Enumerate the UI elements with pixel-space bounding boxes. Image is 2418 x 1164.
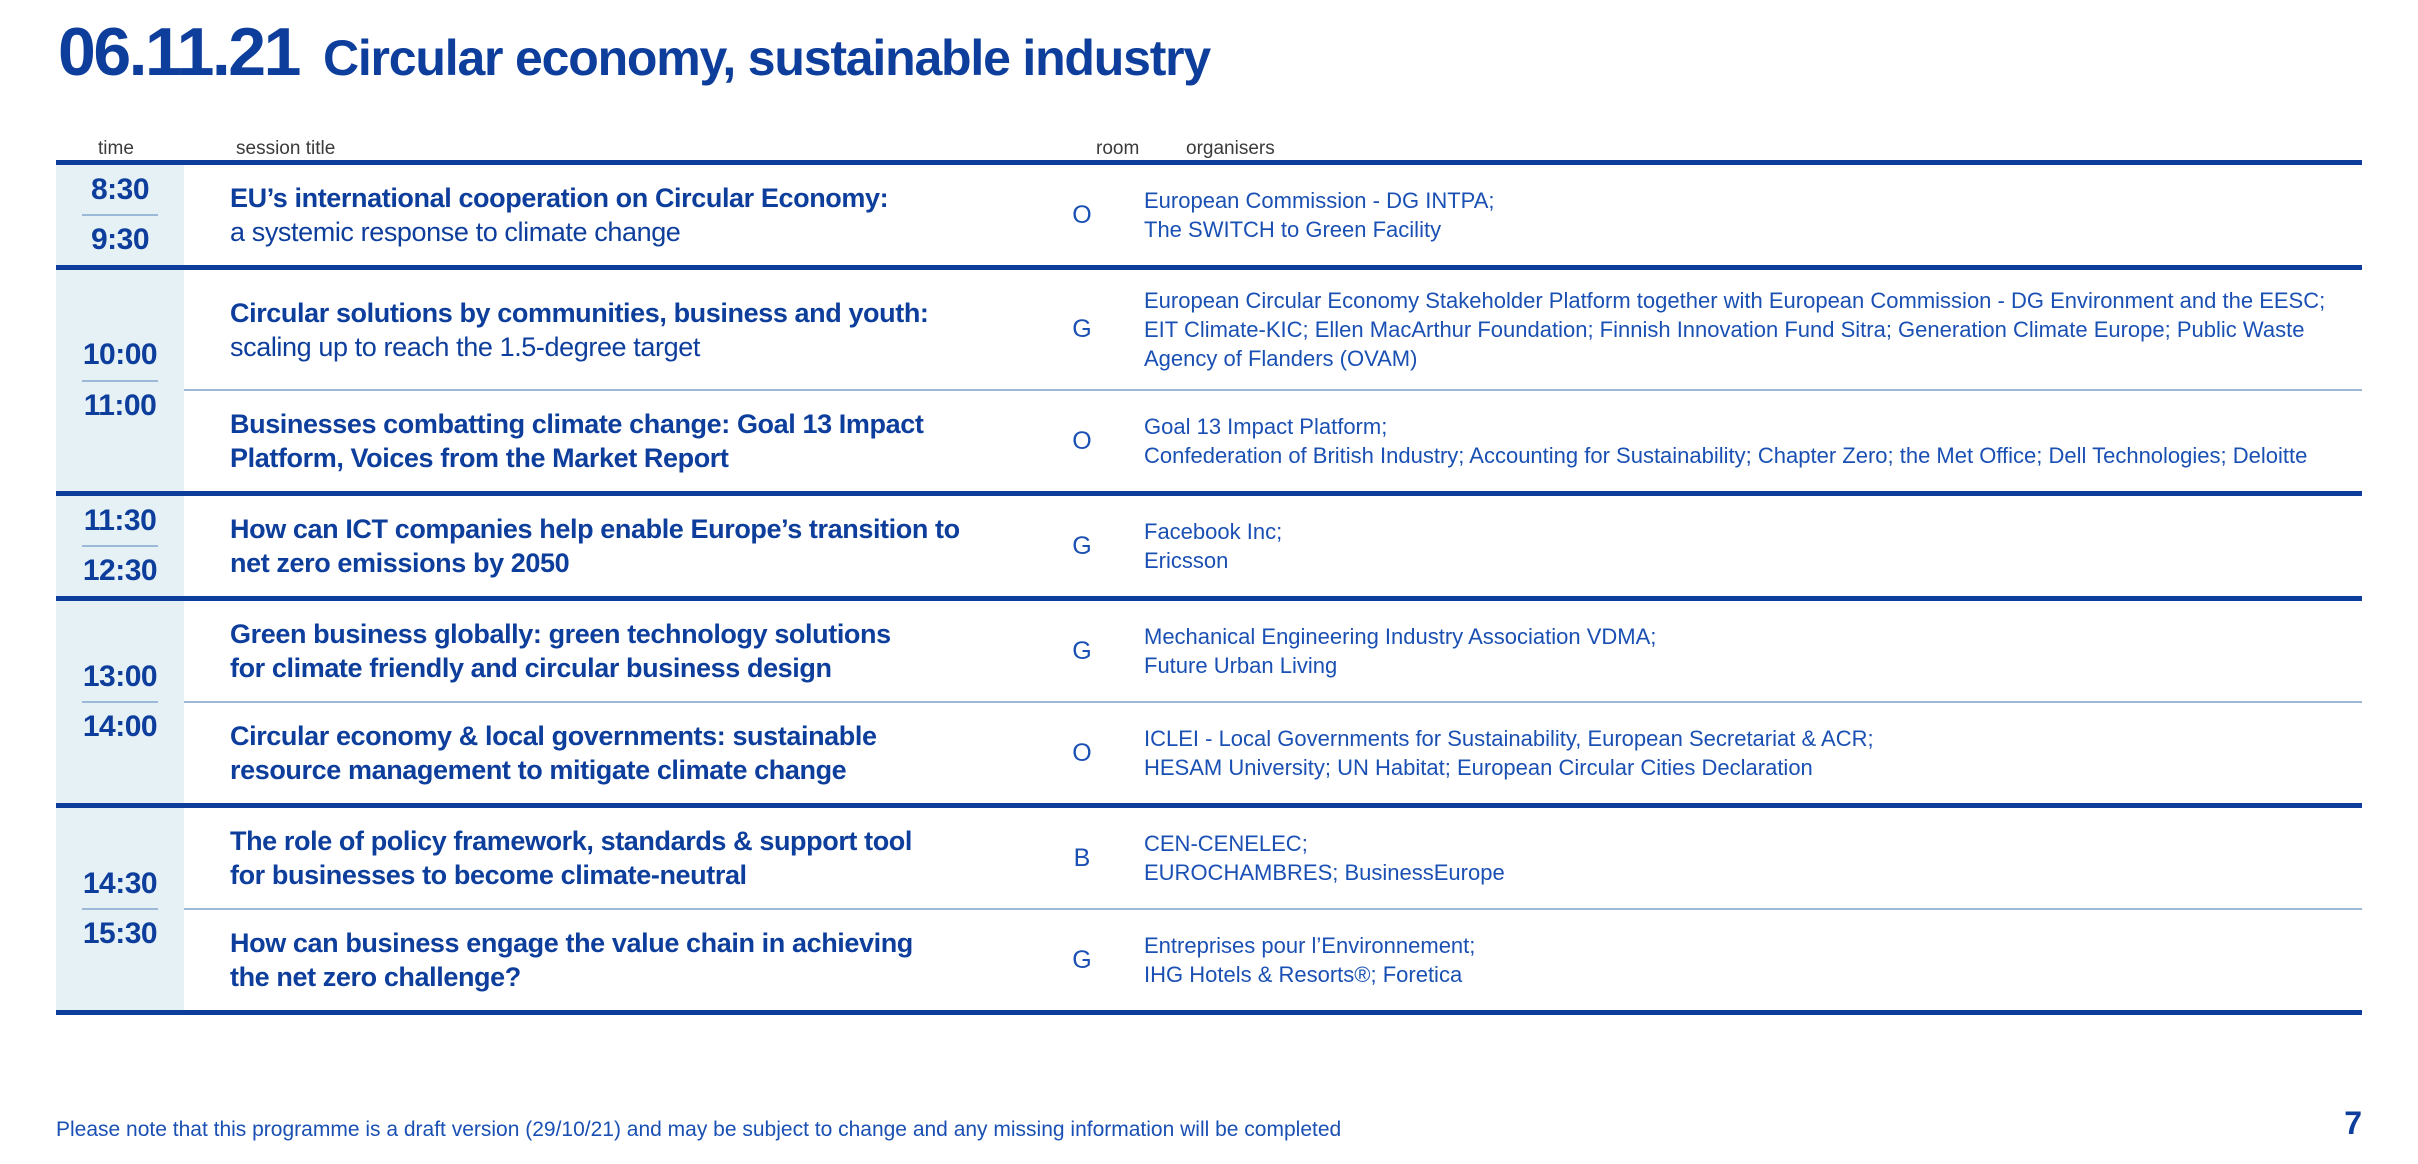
column-header-room: room xyxy=(1096,138,1139,160)
time-end: 11:00 xyxy=(84,386,157,427)
session-title-cell: Circular solutions by communities, busin… xyxy=(184,280,1034,380)
time-end: 12:30 xyxy=(83,551,157,592)
room-cell: B xyxy=(1034,844,1130,873)
time-start: 11:30 xyxy=(84,501,157,542)
time-cell: 10:0011:00 xyxy=(56,270,184,491)
room-cell: G xyxy=(1034,637,1130,666)
time-divider xyxy=(82,214,158,216)
organiser-line: ICLEI - Local Governments for Sustainabi… xyxy=(1144,724,2352,753)
room-cell: G xyxy=(1034,532,1130,561)
time-divider xyxy=(82,380,158,382)
time-end: 15:30 xyxy=(83,914,157,955)
session-title-cell: The role of policy framework, standards … xyxy=(184,808,1034,908)
session-title-cell: Businesses combatting climate change: Go… xyxy=(184,391,1034,491)
footer-note: Please note that this programme is a dra… xyxy=(56,1118,1341,1142)
organiser-line: HESAM University; UN Habitat; European C… xyxy=(1144,753,2352,782)
time-cell: 11:3012:30 xyxy=(56,496,184,596)
organiser-line: European Circular Economy Stakeholder Pl… xyxy=(1144,286,2352,315)
organiser-line: The SWITCH to Green Facility xyxy=(1144,215,2352,244)
organiser-line: Future Urban Living xyxy=(1144,651,2352,680)
schedule-block: 8:309:30EU’s international cooperation o… xyxy=(56,165,2362,270)
session-title-cell: How can business engage the value chain … xyxy=(184,910,1034,1010)
session-title-line-2: for climate friendly and circular busine… xyxy=(230,651,1014,685)
room-cell: O xyxy=(1034,739,1130,768)
time-range: 10:0011:00 xyxy=(56,335,184,426)
session-title-line-1: Circular solutions by communities, busin… xyxy=(230,296,1014,330)
organiser-line: CEN-CENELEC; xyxy=(1144,829,2352,858)
session-title-line-1: The role of policy framework, standards … xyxy=(230,824,1014,858)
organiser-line: Entreprises pour l’Environnement; xyxy=(1144,931,2352,960)
column-headers: time session title room organisers xyxy=(56,122,2362,160)
table-row[interactable]: Businesses combatting climate change: Go… xyxy=(184,391,2362,491)
organisers-cell: CEN-CENELEC;EUROCHAMBRES; BusinessEurope xyxy=(1130,813,2362,903)
table-row[interactable]: How can ICT companies help enable Europe… xyxy=(184,496,2362,596)
session-title-line-2: Platform, Voices from the Market Report xyxy=(230,441,1014,475)
time-divider xyxy=(82,701,158,703)
organisers-cell: ICLEI - Local Governments for Sustainabi… xyxy=(1130,708,2362,798)
room-cell: G xyxy=(1034,315,1130,344)
session-title-line-1: How can business engage the value chain … xyxy=(230,926,1014,960)
session-title-line-2: resource management to mitigate climate … xyxy=(230,753,1014,787)
time-cell: 13:0014:00 xyxy=(56,601,184,803)
schedule-block: 13:0014:00Green business globally: green… xyxy=(56,601,2362,808)
room-cell: G xyxy=(1034,946,1130,975)
session-title-cell: How can ICT companies help enable Europe… xyxy=(184,496,1034,596)
session-title-line-2: a systemic response to climate change xyxy=(230,215,1014,249)
table-row[interactable]: The role of policy framework, standards … xyxy=(184,808,2362,910)
session-title-line-2: net zero emissions by 2050 xyxy=(230,546,1014,580)
time-divider xyxy=(82,908,158,910)
time-range: 14:3015:30 xyxy=(56,864,184,955)
session-title-line-2: for businesses to become climate-neutral xyxy=(230,858,1014,892)
session-rows: EU’s international cooperation on Circul… xyxy=(184,165,2362,265)
organisers-cell: Entreprises pour l’Environnement;IHG Hot… xyxy=(1130,915,2362,1005)
session-title-line-1: Businesses combatting climate change: Go… xyxy=(230,407,1014,441)
time-start: 10:00 xyxy=(83,335,157,376)
table-row[interactable]: How can business engage the value chain … xyxy=(184,910,2362,1010)
table-row[interactable]: Circular economy & local governments: su… xyxy=(184,703,2362,803)
time-end: 14:00 xyxy=(83,707,157,748)
session-rows: How can ICT companies help enable Europe… xyxy=(184,496,2362,596)
time-range: 13:0014:00 xyxy=(56,657,184,748)
schedule-block: 10:0011:00Circular solutions by communit… xyxy=(56,270,2362,496)
session-title-line-1: EU’s international cooperation on Circul… xyxy=(230,181,1014,215)
session-title-cell: EU’s international cooperation on Circul… xyxy=(184,165,1034,265)
organisers-cell: European Commission - DG INTPA;The SWITC… xyxy=(1130,170,2362,260)
column-header-session-title: session title xyxy=(236,138,335,160)
organiser-line: European Commission - DG INTPA; xyxy=(1144,186,2352,215)
organisers-cell: Mechanical Engineering Industry Associat… xyxy=(1130,606,2362,696)
schedule-block: 14:3015:30The role of policy framework, … xyxy=(56,808,2362,1015)
page-title: Circular economy, sustainable industry xyxy=(323,33,1210,83)
page-footer: Please note that this programme is a dra… xyxy=(56,1105,2362,1142)
organiser-line: Mechanical Engineering Industry Associat… xyxy=(1144,622,2352,651)
schedule-table: 8:309:30EU’s international cooperation o… xyxy=(56,160,2362,1015)
page-header: 06.11.21 Circular economy, sustainable i… xyxy=(56,0,2362,86)
time-cell: 8:309:30 xyxy=(56,165,184,265)
session-title-cell: Green business globally: green technolog… xyxy=(184,601,1034,701)
organiser-line: Ericsson xyxy=(1144,546,2352,575)
session-rows: Green business globally: green technolog… xyxy=(184,601,2362,803)
slide-page: 06.11.21 Circular economy, sustainable i… xyxy=(0,0,2418,1164)
time-start: 8:30 xyxy=(91,170,149,211)
organisers-cell: Goal 13 Impact Platform;Confederation of… xyxy=(1130,396,2362,486)
session-title-line-2: the net zero challenge? xyxy=(230,960,1014,994)
session-title-line-2: scaling up to reach the 1.5-degree targe… xyxy=(230,330,1014,364)
page-number: 7 xyxy=(2344,1105,2362,1142)
organisers-cell: Facebook Inc;Ericsson xyxy=(1130,501,2362,591)
time-range: 11:3012:30 xyxy=(56,501,184,592)
session-title-line-1: Green business globally: green technolog… xyxy=(230,617,1014,651)
time-cell: 14:3015:30 xyxy=(56,808,184,1010)
time-start: 14:30 xyxy=(83,864,157,905)
column-header-organisers: organisers xyxy=(1186,138,1275,160)
session-title-line-1: Circular economy & local governments: su… xyxy=(230,719,1014,753)
header-date: 06.11.21 xyxy=(58,18,299,86)
organiser-line: Facebook Inc; xyxy=(1144,517,2352,546)
column-header-time: time xyxy=(98,138,134,160)
organiser-line: Confederation of British Industry; Accou… xyxy=(1144,441,2352,470)
table-row[interactable]: EU’s international cooperation on Circul… xyxy=(184,165,2362,265)
room-cell: O xyxy=(1034,427,1130,456)
time-start: 13:00 xyxy=(83,657,157,698)
session-title-cell: Circular economy & local governments: su… xyxy=(184,703,1034,803)
organisers-cell: European Circular Economy Stakeholder Pl… xyxy=(1130,270,2362,389)
time-end: 9:30 xyxy=(91,220,149,261)
table-row[interactable]: Circular solutions by communities, busin… xyxy=(184,270,2362,391)
session-rows: Circular solutions by communities, busin… xyxy=(184,270,2362,491)
session-rows: The role of policy framework, standards … xyxy=(184,808,2362,1010)
organiser-line: Goal 13 Impact Platform; xyxy=(1144,412,2352,441)
time-range: 8:309:30 xyxy=(56,170,184,261)
time-divider xyxy=(82,545,158,547)
session-title-line-1: How can ICT companies help enable Europe… xyxy=(230,512,1014,546)
schedule-block: 11:3012:30How can ICT companies help ena… xyxy=(56,496,2362,601)
organiser-line: EUROCHAMBRES; BusinessEurope xyxy=(1144,858,2352,887)
table-row[interactable]: Green business globally: green technolog… xyxy=(184,601,2362,703)
room-cell: O xyxy=(1034,201,1130,230)
organiser-line: EIT Climate-KIC; Ellen MacArthur Foundat… xyxy=(1144,315,2352,373)
organiser-line: IHG Hotels & Resorts®; Foretica xyxy=(1144,960,2352,989)
